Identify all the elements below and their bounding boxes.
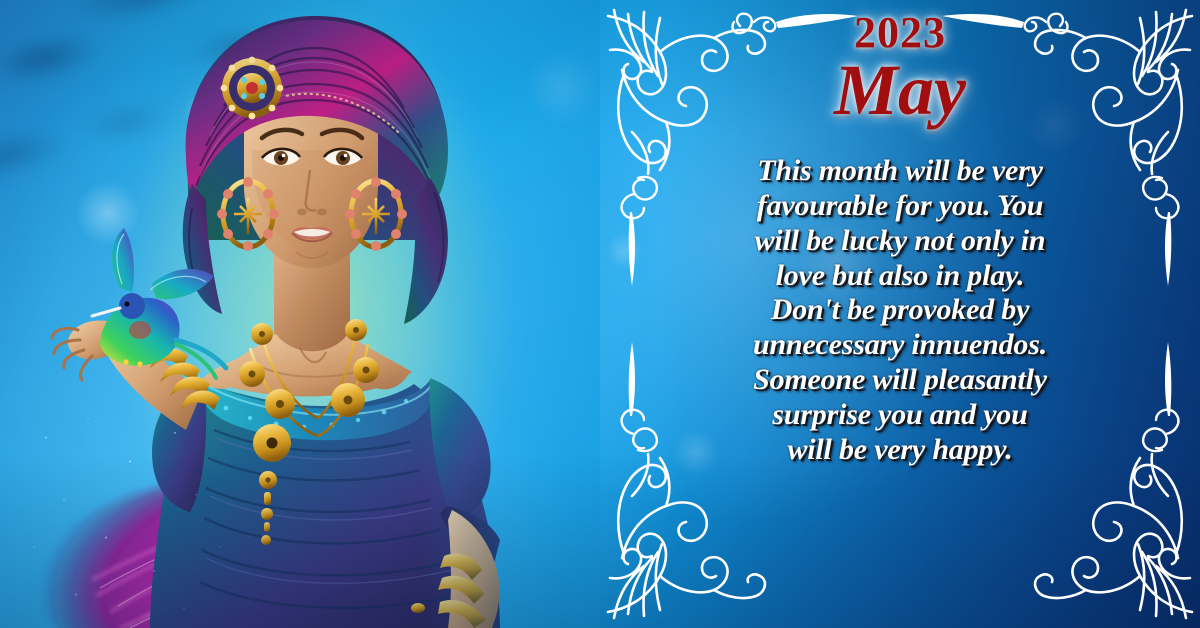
month-label: May — [600, 54, 1200, 126]
horoscope-card: 2023 May This month will be veryfavourab… — [0, 0, 1200, 628]
text-panel: 2023 May This month will be veryfavourab… — [600, 0, 1200, 628]
title-block: 2023 May — [600, 10, 1200, 126]
forecast-text: This month will be veryfavourable for yo… — [700, 154, 1100, 467]
